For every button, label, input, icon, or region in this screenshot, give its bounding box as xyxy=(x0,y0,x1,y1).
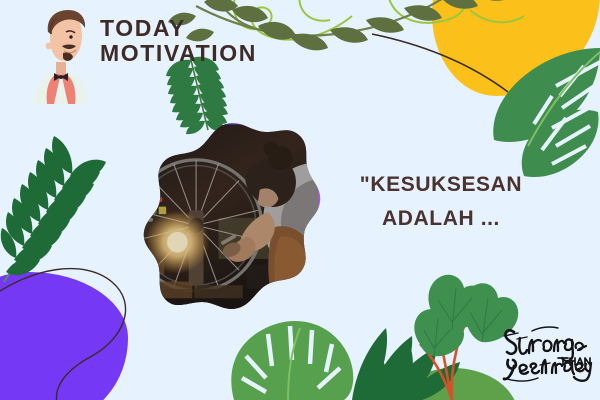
page-title: TODAY MOTIVATION xyxy=(100,16,257,66)
monstera-leaf-bottom-center xyxy=(231,321,353,400)
scalloped-photo-frame xyxy=(128,118,324,322)
green-mound xyxy=(388,368,518,400)
monstera-bottom-midrib xyxy=(288,328,300,400)
yellow-blob xyxy=(432,0,600,96)
avatar-eye xyxy=(69,35,72,38)
monstera-bottom-notches xyxy=(242,326,340,392)
heart-leaf-veins xyxy=(424,288,502,356)
purple-blob xyxy=(0,272,128,400)
stronger-than-yesterday-logo xyxy=(502,320,594,382)
avatar-neck xyxy=(56,62,66,74)
fern-left-shape xyxy=(1,136,106,282)
avatar-bowtie-knot xyxy=(59,75,63,79)
poster-canvas: TODAY MOTIVATION xyxy=(0,0,600,400)
photo-content xyxy=(131,124,318,315)
logo-script-strokes xyxy=(504,327,591,381)
avatar xyxy=(20,4,102,104)
fern-left-midrib xyxy=(4,172,74,282)
quote-text: "KESUKSESAN ADALAH ... xyxy=(340,168,542,236)
